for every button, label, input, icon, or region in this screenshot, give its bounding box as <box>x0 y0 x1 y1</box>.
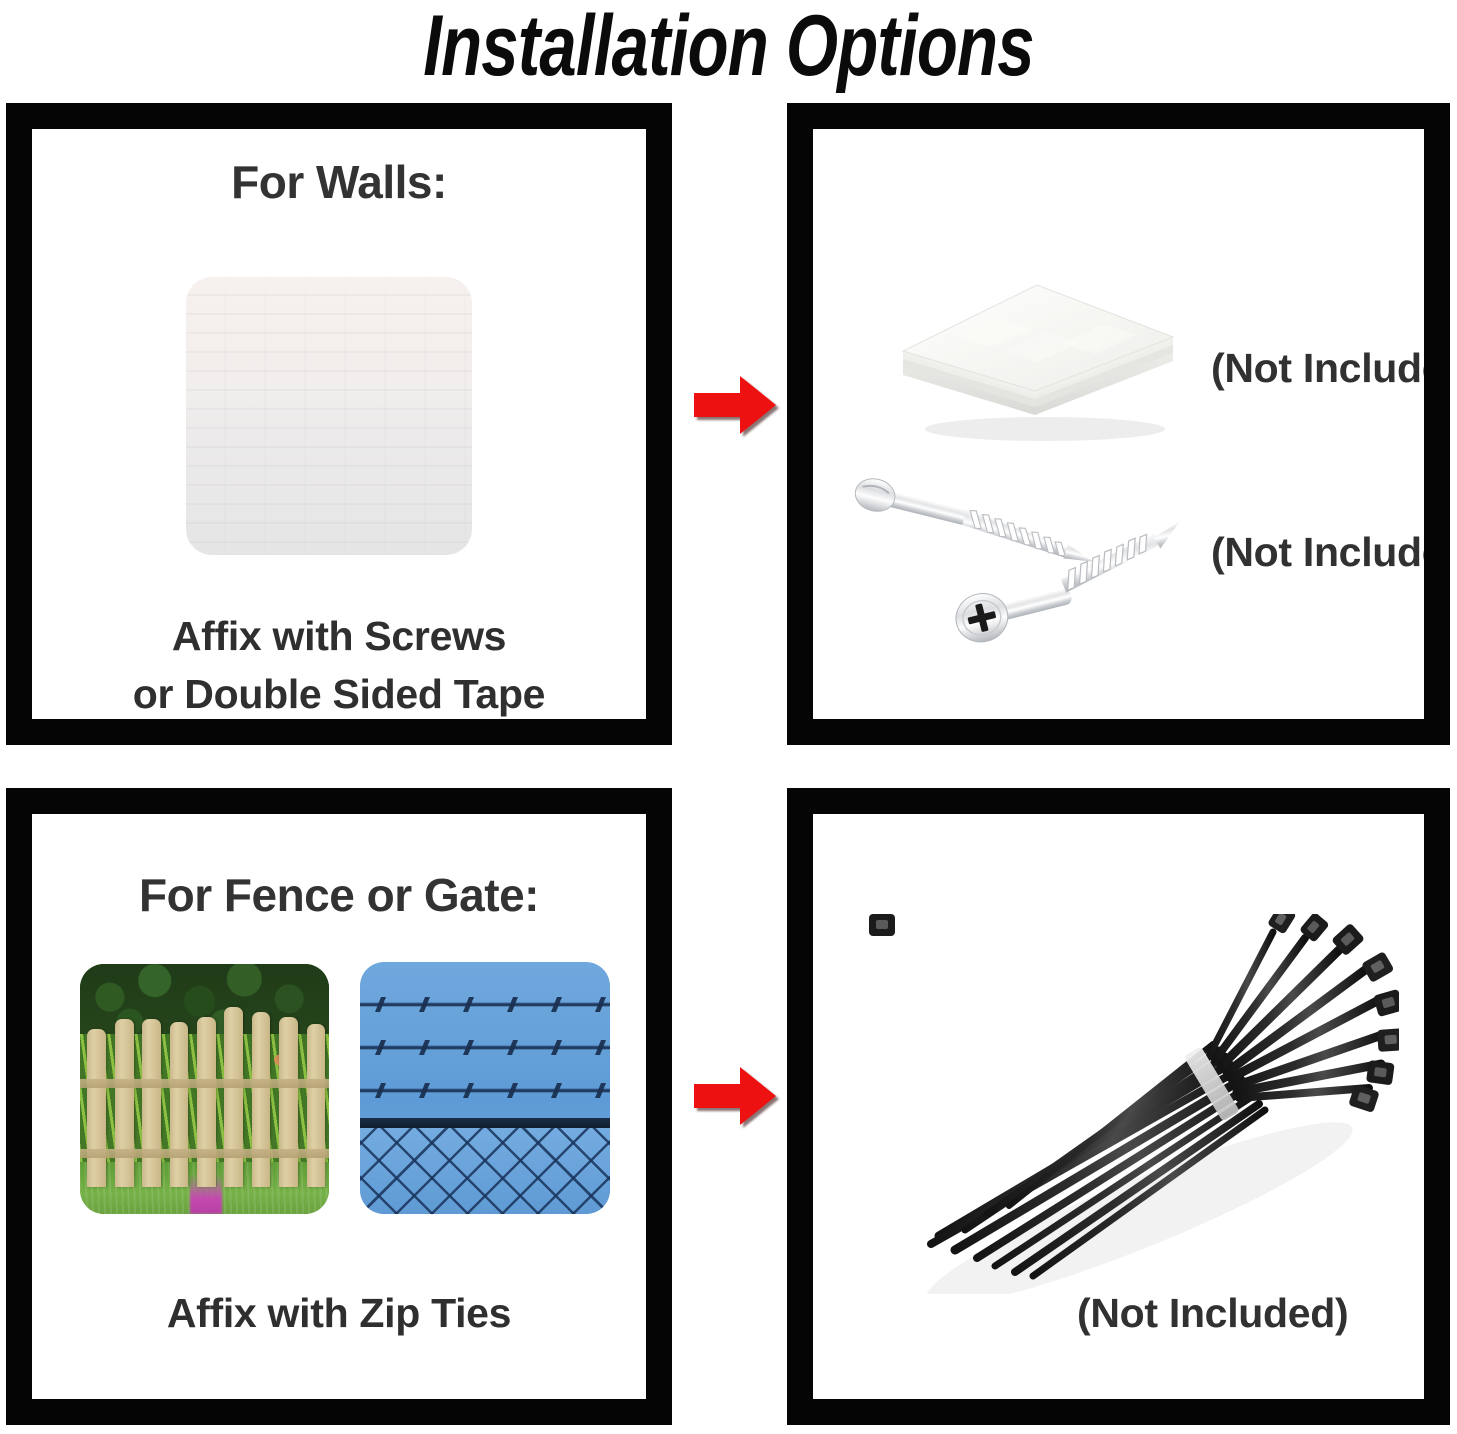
panel-hardware: (Not Included) <box>787 103 1450 745</box>
panel-for-fence-or-gate: For Fence or Gate: <box>6 788 672 1425</box>
walls-caption-line1: Affix with Screws <box>32 607 646 665</box>
fence-heading: For Fence or Gate: <box>32 868 646 922</box>
panel-zip-ties: (Not Included) <box>787 788 1450 1425</box>
tape-not-included-label: (Not Included) <box>1211 345 1424 392</box>
zip-tie-bundle-icon <box>869 914 1399 1294</box>
screws-not-included-label: (Not Included) <box>1211 529 1424 576</box>
arrow-right-icon-top <box>694 374 776 436</box>
chain-link-fence-photo <box>360 962 610 1214</box>
walls-heading: For Walls: <box>32 155 646 209</box>
ziptie-not-included-label: (Not Included) <box>1077 1290 1348 1337</box>
fence-caption-line1: Affix with Zip Ties <box>32 1284 646 1342</box>
walls-caption-line2: or Double Sided Tape <box>32 665 646 719</box>
picket-fence-photo <box>80 964 329 1214</box>
wood-screws-icon <box>841 465 1201 665</box>
arrow-right-icon-bottom <box>694 1065 776 1127</box>
panel-for-walls: For Walls: Affix with Screws or Double S… <box>6 103 672 745</box>
wall-photo <box>186 277 472 555</box>
page-title: Installation Options <box>160 0 1296 94</box>
double-sided-tape-icon <box>885 257 1185 447</box>
